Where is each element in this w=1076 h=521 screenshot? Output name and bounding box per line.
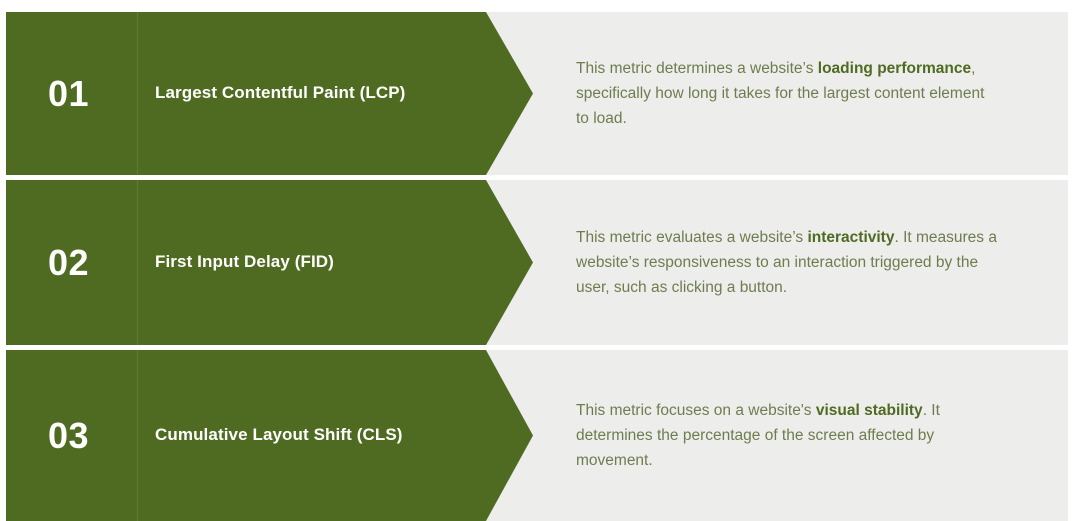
- metric-title-text: First Input Delay (FID): [155, 249, 334, 275]
- metric-description-text: This metric determines a website’s loadi…: [576, 56, 1001, 131]
- chevron-divider: [137, 180, 138, 345]
- metric-description: This metric evaluates a website’s intera…: [576, 180, 1001, 345]
- metric-description-text: This metric evaluates a website’s intera…: [576, 225, 1001, 300]
- metric-title-text: Cumulative Layout Shift (CLS): [155, 422, 403, 448]
- metric-title-text: Largest Contentful Paint (LCP): [155, 80, 405, 106]
- chevron-divider: [137, 12, 138, 175]
- metric-row[interactable]: 02 First Input Delay (FID) This metric e…: [0, 180, 1076, 345]
- metric-rows: 01 Largest Contentful Paint (LCP) This m…: [0, 0, 1076, 521]
- metric-number: 03: [6, 350, 131, 521]
- metric-title: Cumulative Layout Shift (CLS): [155, 350, 455, 521]
- metric-title: First Input Delay (FID): [155, 180, 455, 345]
- metric-number: 02: [6, 180, 131, 345]
- metric-title: Largest Contentful Paint (LCP): [155, 12, 455, 175]
- metric-description: This metric focuses on a website's visua…: [576, 350, 1001, 521]
- metric-row[interactable]: 01 Largest Contentful Paint (LCP) This m…: [0, 12, 1076, 175]
- metric-description: This metric determines a website’s loadi…: [576, 12, 1001, 175]
- chevron-divider: [137, 350, 138, 521]
- metric-description-text: This metric focuses on a website's visua…: [576, 398, 1001, 473]
- infographic-board: 01 Largest Contentful Paint (LCP) This m…: [0, 0, 1076, 521]
- metric-row[interactable]: 03 Cumulative Layout Shift (CLS) This me…: [0, 350, 1076, 521]
- metric-number: 01: [6, 12, 131, 175]
